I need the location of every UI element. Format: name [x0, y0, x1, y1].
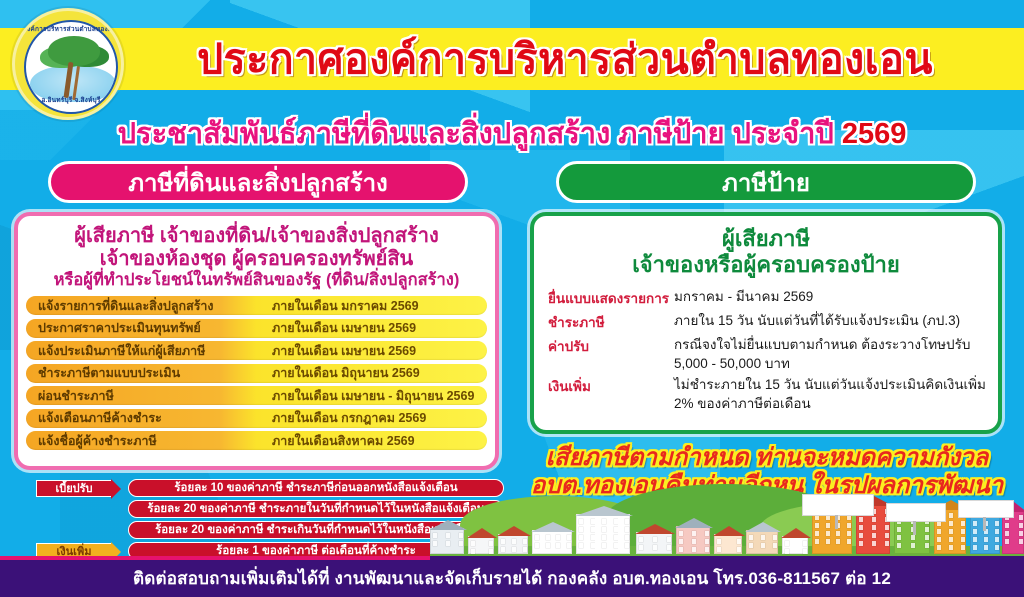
- window-icon: [692, 531, 696, 536]
- building-icon: [498, 534, 528, 554]
- sign-tax-heading: ผู้เสียภาษี เจ้าของหรือผู้ครอบครองป้าย: [548, 226, 984, 278]
- window-icon: [815, 523, 819, 528]
- window-icon: [446, 541, 450, 546]
- window-icon: [995, 521, 999, 526]
- window-icon: [973, 529, 977, 534]
- window-icon: [949, 545, 953, 550]
- sign-tax-value: ไม่ชำระภายใน 15 วัน นับแต่วันแจ้งประเมิน…: [674, 375, 986, 413]
- window-icon: [785, 541, 789, 546]
- window-icon: [847, 523, 851, 528]
- subtitle-text: ประชาสัมพันธ์ภาษีที่ดินและสิ่งปลูกสร้าง …: [118, 118, 842, 150]
- window-icon: [961, 521, 965, 526]
- window-icon: [973, 545, 977, 550]
- window-icon: [614, 527, 618, 532]
- window-icon: [717, 539, 721, 544]
- window-icon: [885, 533, 889, 538]
- window-icon: [859, 541, 863, 546]
- roof-icon: [675, 518, 713, 528]
- window-icon: [803, 541, 807, 546]
- window-icon: [949, 529, 953, 534]
- window-icon: [512, 547, 516, 552]
- window-icon: [949, 537, 953, 542]
- schedule-row: แจ้งประเมินภาษีให้แก่ผู้เสียภาษีภายในเดื…: [26, 341, 487, 360]
- logo-text-top: องค์การบริหารส่วนตำบลทองเอน: [15, 24, 124, 34]
- window-icon: [591, 535, 595, 540]
- window-icon: [737, 539, 741, 544]
- sign-tax-value-line: 5,000 - 50,000 บาท: [674, 354, 970, 373]
- schedule-row: ประกาศราคาประเมินทุนทรัพย์ภายในเดือน เมษ…: [26, 319, 487, 338]
- schedule-row: แจ้งรายการที่ดินและสิ่งปลูกสร้างภายในเดื…: [26, 296, 487, 315]
- land-tax-panel: ผู้เสียภาษี เจ้าของที่ดิน/เจ้าของสิ่งปลู…: [14, 212, 499, 470]
- sign-tax-item: ค่าปรับกรณีจงใจไม่ยื่นแบบตามกำหนด ต้องระ…: [548, 335, 984, 373]
- window-icon: [872, 525, 876, 530]
- window-icon: [512, 539, 516, 544]
- building-icon: [532, 530, 572, 554]
- window-icon: [761, 535, 765, 540]
- window-icon: [614, 543, 618, 548]
- building-icon: [468, 536, 494, 554]
- page-title: ประกาศองค์การบริหารส่วนตำบลทองเอน: [120, 26, 1010, 92]
- window-icon: [579, 543, 583, 548]
- sign-tax-value-line: มกราคม - มีนาคม 2569: [674, 287, 813, 306]
- section-header-sign-tax: ภาษีป้าย: [556, 161, 976, 203]
- building-icon: [636, 532, 672, 554]
- land-tax-heading-line3: หรือผู้ที่ทำประโยชน์ในทรัพย์สินของรัฐ (ท…: [26, 271, 487, 290]
- land-tax-heading-line2: เจ้าของห้องชุด ผู้ครอบครองทรัพย์สิน: [26, 248, 487, 271]
- window-icon: [1005, 523, 1009, 528]
- window-icon: [826, 539, 830, 544]
- window-icon: [1019, 539, 1023, 544]
- logo-tree-icon: [48, 36, 100, 66]
- schedule-row: ผ่อนชำระภาษีภายในเดือน เมษายน - มิถุนายน…: [26, 386, 487, 405]
- window-icon: [973, 521, 977, 526]
- building-icon: [714, 534, 742, 554]
- window-icon: [925, 535, 929, 540]
- window-icon: [614, 535, 618, 540]
- building-icon: [676, 526, 710, 554]
- schedule-deadline: ภายในเดือน กรกฎาคม 2569: [272, 408, 487, 428]
- land-tax-heading: ผู้เสียภาษี เจ้าของที่ดิน/เจ้าของสิ่งปลู…: [26, 225, 487, 289]
- footer-bar: ติดต่อสอบถามเพิ่มเติมได้ที่ งานพัฒนาและจ…: [0, 560, 1024, 597]
- window-icon: [489, 549, 493, 554]
- window-icon: [937, 545, 941, 550]
- window-icon: [885, 525, 889, 530]
- window-icon: [773, 543, 777, 548]
- schedule-deadline: ภายในเดือน มกราคม 2569: [272, 296, 487, 316]
- land-tax-schedule-list: แจ้งรายการที่ดินและสิ่งปลูกสร้างภายในเดื…: [26, 296, 487, 450]
- window-icon: [949, 513, 953, 518]
- billboard-icon: [802, 494, 874, 516]
- schedule-deadline: ภายในเดือน เมษายน 2569: [272, 341, 487, 361]
- sign-tax-item: ชำระภาษีภายใน 15 วัน นับแต่วันที่ได้รับแ…: [548, 311, 984, 333]
- window-icon: [1005, 531, 1009, 536]
- window-icon: [471, 541, 475, 546]
- sign-tax-value: ภายใน 15 วัน นับแต่วันที่ได้รับแจ้งประเม…: [674, 311, 960, 333]
- window-icon: [591, 543, 595, 548]
- sign-tax-item: ยื่นแบบแสดงรายการมกราคม - มีนาคม 2569: [548, 287, 984, 309]
- sign-tax-value-line: กรณีจงใจไม่ยื่นแบบตามกำหนด ต้องระวางโทษป…: [674, 335, 970, 354]
- roof-icon: [467, 528, 497, 538]
- window-icon: [591, 527, 595, 532]
- window-icon: [579, 527, 583, 532]
- window-icon: [653, 545, 657, 550]
- window-icon: [667, 545, 671, 550]
- window-icon: [625, 535, 629, 540]
- window-icon: [847, 531, 851, 536]
- window-icon: [433, 541, 437, 546]
- window-icon: [523, 547, 527, 552]
- roof-icon: [635, 524, 675, 534]
- window-icon: [872, 541, 876, 546]
- window-icon: [872, 517, 876, 522]
- window-icon: [1019, 523, 1023, 528]
- window-icon: [885, 541, 889, 546]
- sign-tax-value: มกราคม - มีนาคม 2569: [674, 287, 813, 309]
- window-icon: [1005, 539, 1009, 544]
- window-icon: [705, 547, 709, 552]
- window-icon: [535, 535, 539, 540]
- window-icon: [925, 543, 929, 548]
- section-header-land-tax: ภาษีที่ดินและสิ่งปลูกสร้าง: [48, 161, 468, 203]
- window-icon: [836, 539, 840, 544]
- window-icon: [761, 543, 765, 548]
- window-icon: [459, 533, 463, 538]
- window-icon: [523, 539, 527, 544]
- window-icon: [602, 527, 606, 532]
- window-icon: [602, 519, 606, 524]
- window-icon: [579, 519, 583, 524]
- window-icon: [679, 547, 683, 552]
- schedule-row: ชำระภาษีตามแบบประเมินภายในเดือน มิถุนายน…: [26, 364, 487, 383]
- window-icon: [1019, 515, 1023, 520]
- window-icon: [459, 541, 463, 546]
- slogan-line1: เสียภาษีตามกำหนด ท่านจะหมดความกังวล: [510, 444, 1024, 472]
- window-icon: [567, 535, 571, 540]
- window-icon: [826, 523, 830, 528]
- window-icon: [446, 533, 450, 538]
- window-icon: [995, 529, 999, 534]
- window-icon: [847, 539, 851, 544]
- sign-tax-value-line: ภายใน 15 วัน นับแต่วันที่ได้รับแจ้งประเม…: [674, 311, 960, 330]
- sign-tax-panel: ผู้เสียภาษี เจ้าของหรือผู้ครอบครองป้าย ย…: [530, 212, 1002, 434]
- window-icon: [773, 535, 777, 540]
- window-icon: [556, 543, 560, 548]
- window-icon: [815, 539, 819, 544]
- window-icon: [667, 537, 671, 542]
- building-icon: [782, 536, 808, 554]
- penalty-tag: เบี้ยปรับ: [36, 480, 112, 497]
- roof-icon: [531, 522, 575, 532]
- window-icon: [749, 535, 753, 540]
- roof-icon: [745, 522, 781, 532]
- schedule-task: ประกาศราคาประเมินทุนทรัพย์: [26, 318, 272, 338]
- window-icon: [961, 529, 965, 534]
- roof-icon: [430, 520, 467, 530]
- window-icon: [567, 543, 571, 548]
- schedule-task: แจ้งประเมินภาษีให้แก่ผู้เสียภาษี: [26, 341, 272, 361]
- window-icon: [705, 531, 709, 536]
- window-icon: [859, 525, 863, 530]
- window-icon: [679, 531, 683, 536]
- sign-tax-value: กรณีจงใจไม่ยื่นแบบตามกำหนด ต้องระวางโทษป…: [674, 335, 970, 373]
- window-icon: [471, 549, 475, 554]
- sign-tax-detail-list: ยื่นแบบแสดงรายการมกราคม - มีนาคม 2569ชำร…: [548, 287, 984, 414]
- schedule-deadline: ภายในเดือนสิงหาคม 2569: [272, 431, 487, 451]
- sign-tax-label: ชำระภาษี: [548, 311, 674, 333]
- window-icon: [433, 533, 437, 538]
- window-icon: [625, 527, 629, 532]
- billboard-icon: [958, 500, 1014, 518]
- contact-text: ติดต่อสอบถามเพิ่มเติมได้ที่ งานพัฒนาและจ…: [133, 565, 891, 592]
- window-icon: [984, 545, 988, 550]
- window-icon: [692, 539, 696, 544]
- roof-icon: [497, 526, 531, 536]
- window-icon: [984, 537, 988, 542]
- land-tax-heading-line1: ผู้เสียภาษี เจ้าของที่ดิน/เจ้าของสิ่งปลู…: [26, 225, 487, 248]
- window-icon: [911, 535, 915, 540]
- window-icon: [602, 535, 606, 540]
- sign-tax-heading-line1: ผู้เสียภาษี: [548, 226, 984, 252]
- window-icon: [937, 537, 941, 542]
- sign-tax-label: ค่าปรับ: [548, 335, 674, 373]
- window-icon: [897, 535, 901, 540]
- building-icon: [430, 528, 464, 554]
- schedule-row: แจ้งเตือนภาษีค้างชำระภายในเดือน กรกฎาคม …: [26, 409, 487, 428]
- sign-tax-item: เงินเพิ่มไม่ชำระภายใน 15 วัน นับแต่วันแจ…: [548, 375, 984, 413]
- schedule-task: แจ้งรายการที่ดินและสิ่งปลูกสร้าง: [26, 296, 272, 316]
- window-icon: [591, 519, 595, 524]
- window-icon: [1019, 531, 1023, 536]
- window-icon: [949, 521, 953, 526]
- window-icon: [546, 543, 550, 548]
- window-icon: [625, 543, 629, 548]
- window-icon: [705, 539, 709, 544]
- building-icon: [576, 514, 630, 554]
- building-icon: [812, 510, 852, 554]
- roof-icon: [713, 526, 745, 536]
- window-icon: [925, 527, 929, 532]
- window-icon: [546, 535, 550, 540]
- window-icon: [653, 537, 657, 542]
- building-icon: [746, 530, 778, 554]
- window-icon: [625, 519, 629, 524]
- poster-canvas: องค์การบริหารส่วนตำบลทองเอน อ.อินทร์บุรี…: [0, 0, 1024, 597]
- sign-tax-value-line: 2% ของค่าภาษีต่อเดือน: [674, 394, 986, 413]
- page-subtitle: ประชาสัมพันธ์ภาษีที่ดินและสิ่งปลูกสร้าง …: [0, 110, 1024, 156]
- window-icon: [535, 543, 539, 548]
- schedule-task: ชำระภาษีตามแบบประเมิน: [26, 363, 272, 383]
- schedule-task: ผ่อนชำระภาษี: [26, 386, 272, 406]
- window-icon: [815, 531, 819, 536]
- schedule-task: แจ้งเตือนภาษีค้างชำระ: [26, 408, 272, 428]
- sign-tax-value-line: ไม่ชำระภายใน 15 วัน นับแต่วันแจ้งประเมิน…: [674, 375, 986, 394]
- window-icon: [579, 535, 583, 540]
- roof-icon: [575, 506, 633, 516]
- window-icon: [614, 519, 618, 524]
- window-icon: [501, 539, 505, 544]
- window-icon: [692, 547, 696, 552]
- window-icon: [872, 533, 876, 538]
- schedule-row: แจ้งชื่อผู้ค้างชำระภาษีภายในเดือนสิงหาคม…: [26, 431, 487, 450]
- window-icon: [897, 543, 901, 548]
- window-icon: [639, 537, 643, 542]
- window-icon: [995, 545, 999, 550]
- window-icon: [961, 537, 965, 542]
- window-icon: [995, 537, 999, 542]
- sign-tax-label: เงินเพิ่ม: [548, 375, 674, 413]
- billboard-icon: [886, 503, 946, 522]
- window-icon: [973, 537, 977, 542]
- window-icon: [717, 547, 721, 552]
- window-icon: [897, 527, 901, 532]
- logo-text-bottom: อ.อินทร์บุรี จ.สิงห์บุรี: [15, 95, 124, 105]
- schedule-task: แจ้งชื่อผู้ค้างชำระภาษี: [26, 431, 272, 451]
- schedule-deadline: ภายในเดือน มิถุนายน 2569: [272, 363, 487, 383]
- window-icon: [859, 533, 863, 538]
- window-icon: [749, 543, 753, 548]
- schedule-deadline: ภายในเดือน เมษายน 2569: [272, 318, 487, 338]
- window-icon: [826, 531, 830, 536]
- window-icon: [737, 547, 741, 552]
- window-icon: [501, 547, 505, 552]
- window-icon: [639, 545, 643, 550]
- window-icon: [911, 543, 915, 548]
- sign-tax-heading-line2: เจ้าของหรือผู้ครอบครองป้าย: [548, 252, 984, 278]
- window-icon: [836, 531, 840, 536]
- window-icon: [785, 549, 789, 554]
- subtitle-year: 2569: [842, 118, 907, 150]
- roof-icon: [781, 528, 811, 538]
- window-icon: [803, 549, 807, 554]
- window-icon: [937, 529, 941, 534]
- sign-tax-label: ยื่นแบบแสดงรายการ: [548, 287, 674, 309]
- window-icon: [859, 517, 863, 522]
- window-icon: [961, 545, 965, 550]
- window-icon: [489, 541, 493, 546]
- window-icon: [556, 535, 560, 540]
- window-icon: [679, 539, 683, 544]
- schedule-deadline: ภายในเดือน เมษายน - มิถุนายน 2569: [272, 386, 487, 406]
- window-icon: [602, 543, 606, 548]
- cityscape-illustration: [430, 482, 1024, 560]
- organization-logo: องค์การบริหารส่วนตำบลทองเอน อ.อินทร์บุรี…: [12, 8, 124, 120]
